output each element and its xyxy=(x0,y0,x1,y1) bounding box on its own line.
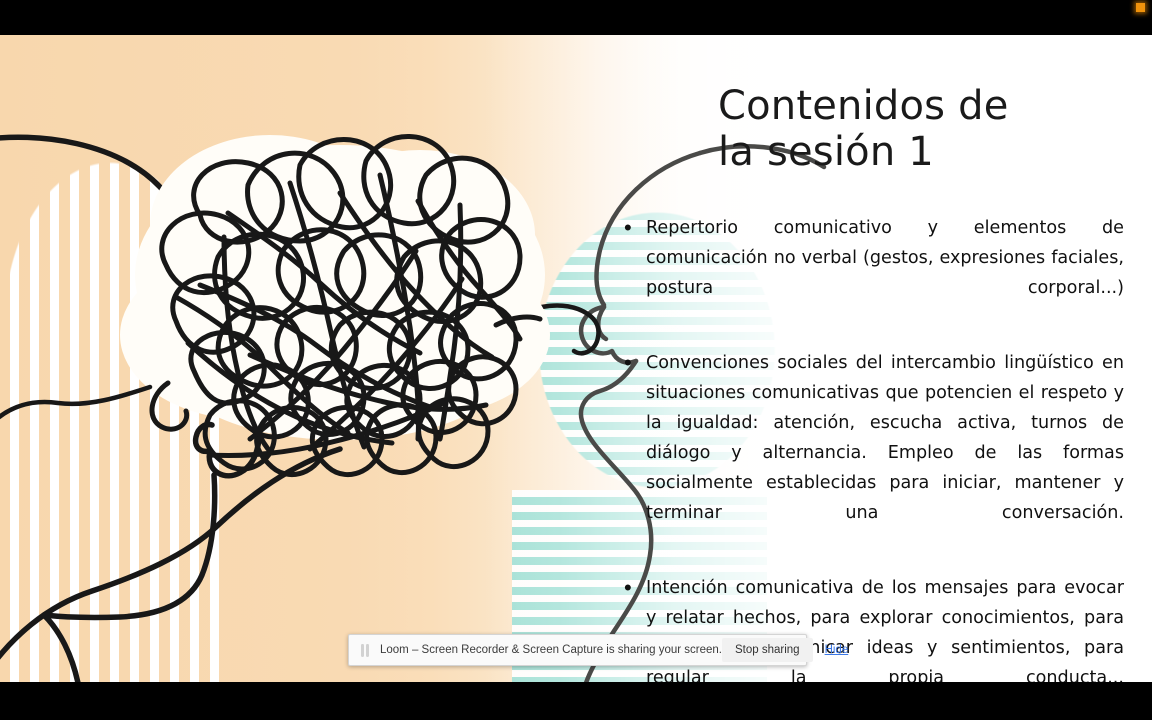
slide-bullet-list: • Repertorio comunicativo y elementos de… xyxy=(624,213,1124,682)
bullet-marker-icon: • xyxy=(624,213,646,333)
left-tail-line xyxy=(0,387,150,425)
letterbox-bottom-bar xyxy=(0,682,1152,720)
bullet-item: • Repertorio comunicativo y elementos de… xyxy=(624,213,1124,333)
bullet-text: Repertorio comunicativo y elementos de c… xyxy=(646,213,1124,333)
bullet-marker-icon: • xyxy=(624,348,646,558)
screen: Contenidos de la sesión 1 • Repertorio c… xyxy=(0,0,1152,720)
loom-logo-icon xyxy=(359,643,372,658)
stop-sharing-button[interactable]: Stop sharing xyxy=(722,638,813,662)
share-message: Loom – Screen Recorder & Screen Capture … xyxy=(380,644,722,656)
screen-share-notification-bar: Loom – Screen Recorder & Screen Capture … xyxy=(348,634,807,666)
bullet-item: • Convenciones sociales del intercambio … xyxy=(624,348,1124,558)
slide-title-line-2: la sesión 1 xyxy=(718,129,1138,175)
slide-title-line-1: Contenidos de xyxy=(718,83,1138,129)
bullet-text: Convenciones sociales del intercambio li… xyxy=(646,348,1124,558)
letterbox-top-bar xyxy=(0,0,1152,35)
presentation-slide: Contenidos de la sesión 1 • Repertorio c… xyxy=(0,35,1152,682)
recording-dot xyxy=(1136,3,1145,12)
hide-link[interactable]: Hide xyxy=(825,644,849,656)
slide-title: Contenidos de la sesión 1 xyxy=(718,83,1138,175)
